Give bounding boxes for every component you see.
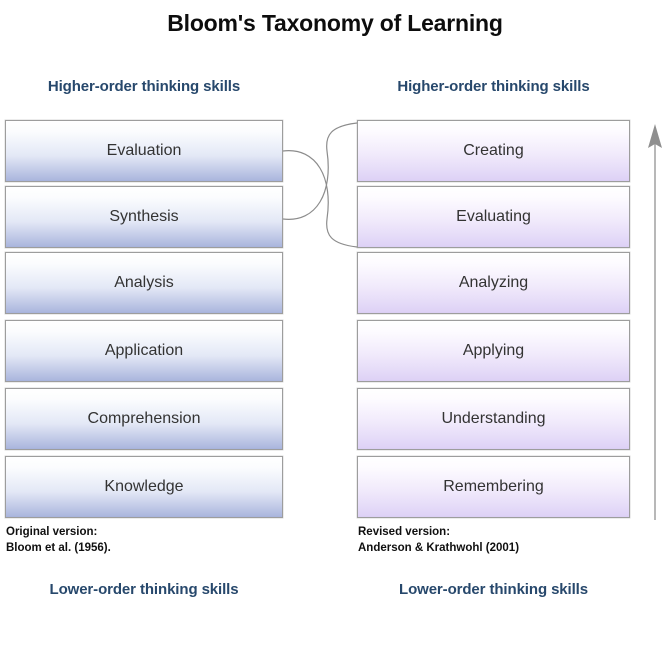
level-box-analyzing[interactable]: Analyzing <box>357 252 630 314</box>
right-column-higher-order-label: Higher-order thinking skills <box>357 78 630 95</box>
level-box-evaluating[interactable]: Evaluating <box>357 186 630 248</box>
level-box-evaluation[interactable]: Evaluation <box>5 120 283 182</box>
revised-source-note: Revised version: Anderson & Krathwohl (2… <box>358 525 519 556</box>
upward-progression-arrow-icon <box>640 122 670 522</box>
level-box-understanding[interactable]: Understanding <box>357 388 630 450</box>
level-box-creating[interactable]: Creating <box>357 120 630 182</box>
level-box-comprehension[interactable]: Comprehension <box>5 388 283 450</box>
level-box-analysis[interactable]: Analysis <box>5 252 283 314</box>
link-curve-synthesis-to-creating <box>283 123 357 219</box>
level-box-applying[interactable]: Applying <box>357 320 630 382</box>
level-box-synthesis[interactable]: Synthesis <box>5 186 283 248</box>
left-column-higher-order-label: Higher-order thinking skills <box>5 78 283 95</box>
original-source-note: Original version: Bloom et al. (1956). <box>6 525 111 556</box>
right-column-lower-order-label: Lower-order thinking skills <box>357 581 630 598</box>
page-title: Bloom's Taxonomy of Learning <box>0 10 670 37</box>
level-box-remembering[interactable]: Remembering <box>357 456 630 518</box>
level-box-knowledge[interactable]: Knowledge <box>5 456 283 518</box>
crossing-link-lines-icon <box>283 120 357 250</box>
left-column-lower-order-label: Lower-order thinking skills <box>5 581 283 598</box>
link-curve-evaluation-to-evaluating <box>283 151 357 247</box>
level-box-application[interactable]: Application <box>5 320 283 382</box>
